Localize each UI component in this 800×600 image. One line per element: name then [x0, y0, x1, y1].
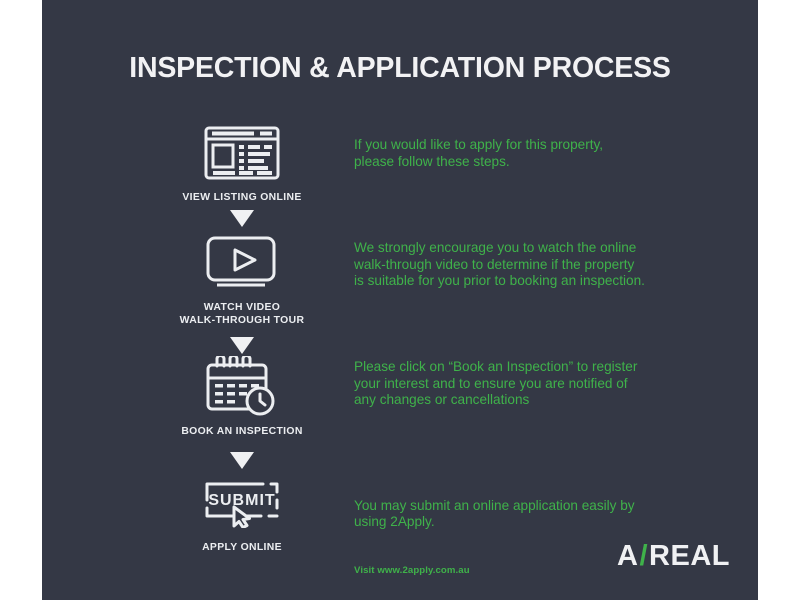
submit-icon-text: SUBMIT — [208, 492, 275, 509]
step-4-text-group: You may submit an online application eas… — [354, 481, 704, 597]
logo-text-real: REAL — [649, 540, 730, 573]
step-1-icon-column: VIEW LISTING ONLINE — [152, 122, 332, 204]
step-4-label: APPLY ONLINE — [152, 541, 332, 554]
step-2-text: We strongly encourage you to watch the o… — [354, 240, 704, 290]
step-3-icon-column: BOOK AN INSPECTION — [152, 356, 332, 438]
step-1-text: If you would like to apply for this prop… — [354, 137, 704, 170]
arrow-down-1 — [152, 210, 332, 230]
step-4-icon-column: SUBMIT APPLY ONLINE — [152, 472, 332, 554]
brand-logo: A / REAL — [617, 540, 730, 573]
step-3-text: Please click on “Book an Inspection” to … — [354, 359, 704, 409]
logo-slash-icon: / — [639, 540, 648, 573]
submit-button-icon: SUBMIT — [152, 472, 332, 534]
book-inspection-calendar-icon — [152, 356, 332, 418]
infographic-canvas: INSPECTION & APPLICATION PROCESS — [0, 0, 800, 600]
page-title: INSPECTION & APPLICATION PROCESS — [42, 52, 758, 85]
view-listing-icon — [152, 122, 332, 184]
logo-text-a: A — [617, 540, 638, 573]
step-2-label: WATCH VIDEO WALK-THROUGH TOUR — [152, 301, 332, 327]
arrow-down-2 — [152, 337, 332, 357]
watch-video-icon — [152, 232, 332, 294]
arrow-down-3 — [152, 452, 332, 472]
dark-panel: INSPECTION & APPLICATION PROCESS — [42, 0, 758, 600]
step-4-text: You may submit an online application eas… — [354, 498, 704, 531]
step-3-label: BOOK AN INSPECTION — [152, 425, 332, 438]
step-2-icon-column: WATCH VIDEO WALK-THROUGH TOUR — [152, 232, 332, 327]
step-1-label: VIEW LISTING ONLINE — [152, 191, 332, 204]
